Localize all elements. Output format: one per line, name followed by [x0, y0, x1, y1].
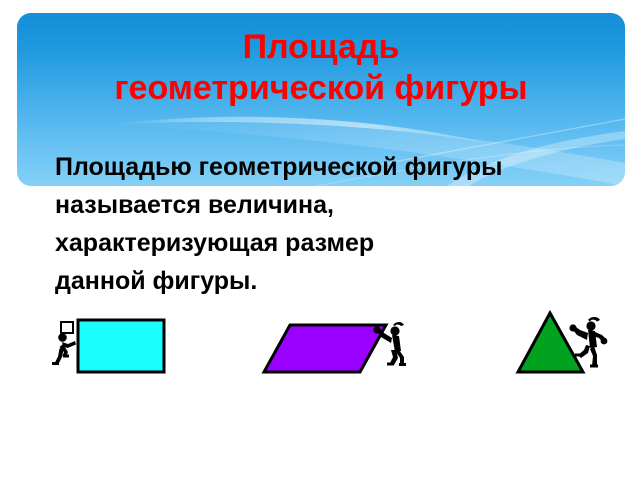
page-title: Площадь геометрической фигуры [17, 27, 625, 109]
cyan-rectangle [78, 320, 164, 372]
slide-canvas: Площадь геометрической фигуры Площадью г… [0, 0, 640, 480]
figures-illustration [0, 295, 640, 390]
stick-figure-pushing-icon [52, 321, 76, 365]
green-triangle [518, 313, 583, 372]
figures-row [0, 295, 640, 390]
purple-parallelogram [264, 325, 386, 372]
stick-figure-climbing-icon [373, 322, 406, 366]
definition-paragraph: Площадью геометрической фигуры называетс… [55, 148, 630, 300]
swoosh-curve-1 [109, 117, 487, 143]
